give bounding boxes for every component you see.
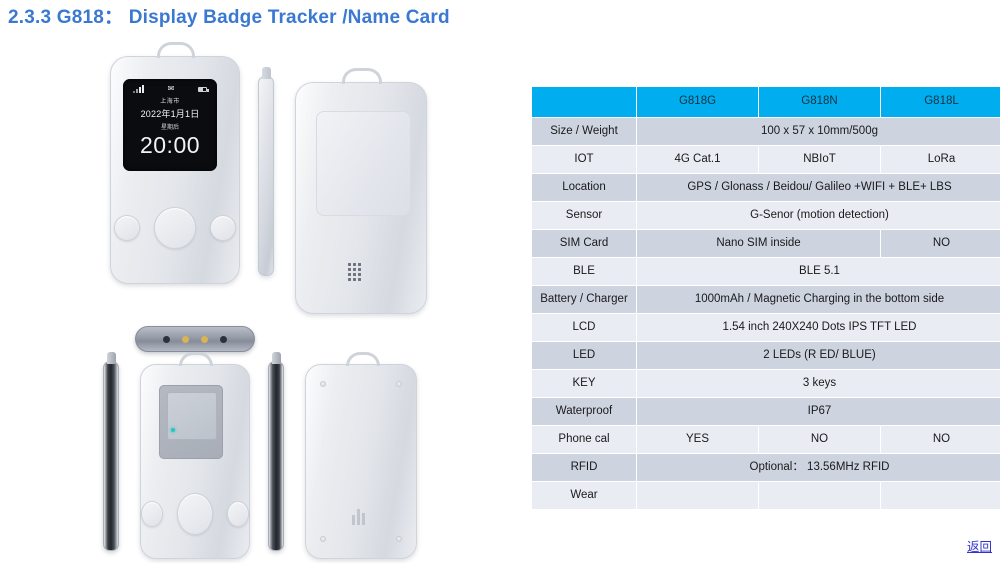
row-label: Size / Weight xyxy=(532,118,636,145)
row-label: KEY xyxy=(532,370,636,397)
device-front-view-screen-off xyxy=(140,364,250,559)
device-back-panel xyxy=(316,111,411,216)
device-screen-bezel xyxy=(159,385,223,459)
row-value: 3 keys xyxy=(637,370,1000,397)
device-key-right xyxy=(210,215,236,241)
device-back-view-top xyxy=(295,82,427,314)
lcd-city-label: 上海市 xyxy=(123,96,217,105)
device-bottom-edge-charging-pins xyxy=(135,326,255,352)
lanyard-loop-icon xyxy=(342,68,382,84)
row-label: IOT xyxy=(532,146,636,173)
table-row: BLEBLE 5.1 xyxy=(532,258,1000,285)
row-label: Sensor xyxy=(532,202,636,229)
device-key-left xyxy=(114,215,140,241)
row-label: SIM Card xyxy=(532,230,636,257)
charging-pin-1 xyxy=(163,336,170,343)
row-value: LoRa xyxy=(881,146,1000,173)
table-row: LocationGPS / Glonass / Beidou/ Galileo … xyxy=(532,174,1000,201)
device-key-left xyxy=(141,501,163,527)
device-key-center xyxy=(154,207,196,249)
device-side-view-top xyxy=(258,76,274,276)
lanyard-loop-icon xyxy=(157,42,195,58)
device-key-row xyxy=(141,493,249,535)
page-title: 2.3.3 G818： Display Badge Tracker /Name … xyxy=(8,2,450,29)
row-label: Wear xyxy=(532,482,636,509)
row-label: Phone cal xyxy=(532,426,636,453)
brand-logo-icon xyxy=(352,507,372,525)
row-label: Location xyxy=(532,174,636,201)
row-label: LED xyxy=(532,342,636,369)
battery-icon xyxy=(198,87,207,92)
lanyard-anchor-icon xyxy=(107,352,116,364)
row-value: Optional： 13.56MHz RFID xyxy=(637,454,1000,481)
row-value: YES xyxy=(637,426,758,453)
table-row: LED2 LEDs (R ED/ BLUE) xyxy=(532,342,1000,369)
device-image-gallery: ✉ 上海市 2022年1月1日 星期后 20:00 xyxy=(0,34,520,563)
table-row: Size / Weight100 x 57 x 10mm/500g xyxy=(532,118,1000,145)
row-value xyxy=(881,482,1000,509)
screw-icon-bottom-left xyxy=(320,536,326,542)
table-row: Battery / Charger1000mAh / Magnetic Char… xyxy=(532,286,1000,313)
row-value: G-Senor (motion detection) xyxy=(637,202,1000,229)
device-front-view-screen-on: ✉ 上海市 2022年1月1日 星期后 20:00 xyxy=(110,56,240,284)
header-cell-g818l: G818L xyxy=(881,87,1000,117)
table-row: LCD1.54 inch 240X240 Dots IPS TFT LED xyxy=(532,314,1000,341)
table-row: WaterproofIP67 xyxy=(532,398,1000,425)
device-side-view-left xyxy=(103,361,119,551)
lcd-time-label: 20:00 xyxy=(123,132,217,159)
spec-table-header: G818G G818N G818L xyxy=(532,87,1000,117)
table-row: SIM CardNano SIM insideNO xyxy=(532,230,1000,257)
row-value: NO xyxy=(881,230,1000,257)
device-key-row xyxy=(111,207,239,249)
speaker-grille-icon xyxy=(348,263,361,281)
device-back-view-bottom xyxy=(305,364,417,559)
row-label: RFID xyxy=(532,454,636,481)
specification-table: G818G G818N G818L Size / Weight100 x 57 … xyxy=(531,86,1000,510)
signal-bars-icon xyxy=(133,85,144,93)
envelope-icon: ✉ xyxy=(168,85,175,93)
return-link[interactable]: 返回 xyxy=(967,536,992,555)
header-cell-blank xyxy=(532,87,636,117)
device-key-right xyxy=(227,501,249,527)
table-header-row: G818G G818N G818L xyxy=(532,87,1000,117)
row-value: NO xyxy=(881,426,1000,453)
lcd-date-label: 2022年1月1日 xyxy=(123,107,217,120)
lcd-status-bar: ✉ xyxy=(123,79,217,93)
row-value: NBIoT xyxy=(759,146,880,173)
row-value: 1000mAh / Magnetic Charging in the botto… xyxy=(637,286,1000,313)
lcd-content: 上海市 2022年1月1日 星期后 20:00 xyxy=(123,93,217,159)
row-value: 1.54 inch 240X240 Dots IPS TFT LED xyxy=(637,314,1000,341)
row-value: GPS / Glonass / Beidou/ Galileo +WIFI + … xyxy=(637,174,1000,201)
charging-pin-4 xyxy=(220,336,227,343)
row-label: Waterproof xyxy=(532,398,636,425)
row-value: NO xyxy=(759,426,880,453)
screw-icon-bottom-right xyxy=(396,536,402,542)
row-value xyxy=(759,482,880,509)
row-label: LCD xyxy=(532,314,636,341)
slide-page: 2.3.3 G818： Display Badge Tracker /Name … xyxy=(0,0,1000,563)
lanyard-anchor-icon xyxy=(262,67,271,79)
table-row: Wear xyxy=(532,482,1000,509)
row-value xyxy=(637,482,758,509)
lanyard-loop-icon xyxy=(346,352,380,366)
device-side-view-right xyxy=(268,361,284,551)
lanyard-loop-icon xyxy=(179,352,213,366)
charging-pin-2 xyxy=(182,336,189,343)
row-value: IP67 xyxy=(637,398,1000,425)
row-value: BLE 5.1 xyxy=(637,258,1000,285)
table-row: RFIDOptional： 13.56MHz RFID xyxy=(532,454,1000,481)
row-label: BLE xyxy=(532,258,636,285)
status-led-indicator xyxy=(171,428,175,432)
header-cell-g818g: G818G xyxy=(637,87,758,117)
device-screen-inactive xyxy=(167,392,217,440)
row-value: Nano SIM inside xyxy=(637,230,880,257)
screw-icon-top-right xyxy=(396,381,402,387)
table-row: SensorG-Senor (motion detection) xyxy=(532,202,1000,229)
row-value: 2 LEDs (R ED/ BLUE) xyxy=(637,342,1000,369)
charging-pin-3 xyxy=(201,336,208,343)
row-value: 4G Cat.1 xyxy=(637,146,758,173)
table-row: KEY3 keys xyxy=(532,370,1000,397)
lanyard-anchor-icon xyxy=(272,352,281,364)
row-value: 100 x 57 x 10mm/500g xyxy=(637,118,1000,145)
device-lcd-display: ✉ 上海市 2022年1月1日 星期后 20:00 xyxy=(123,79,217,171)
device-key-center xyxy=(177,493,213,535)
row-label: Battery / Charger xyxy=(532,286,636,313)
table-row: Phone calYESNONO xyxy=(532,426,1000,453)
spec-table-body: Size / Weight100 x 57 x 10mm/500gIOT4G C… xyxy=(532,118,1000,509)
header-cell-g818n: G818N xyxy=(759,87,880,117)
lcd-weekday-label: 星期后 xyxy=(123,122,217,131)
table-row: IOT4G Cat.1NBIoTLoRa xyxy=(532,146,1000,173)
screw-icon-top-left xyxy=(320,381,326,387)
